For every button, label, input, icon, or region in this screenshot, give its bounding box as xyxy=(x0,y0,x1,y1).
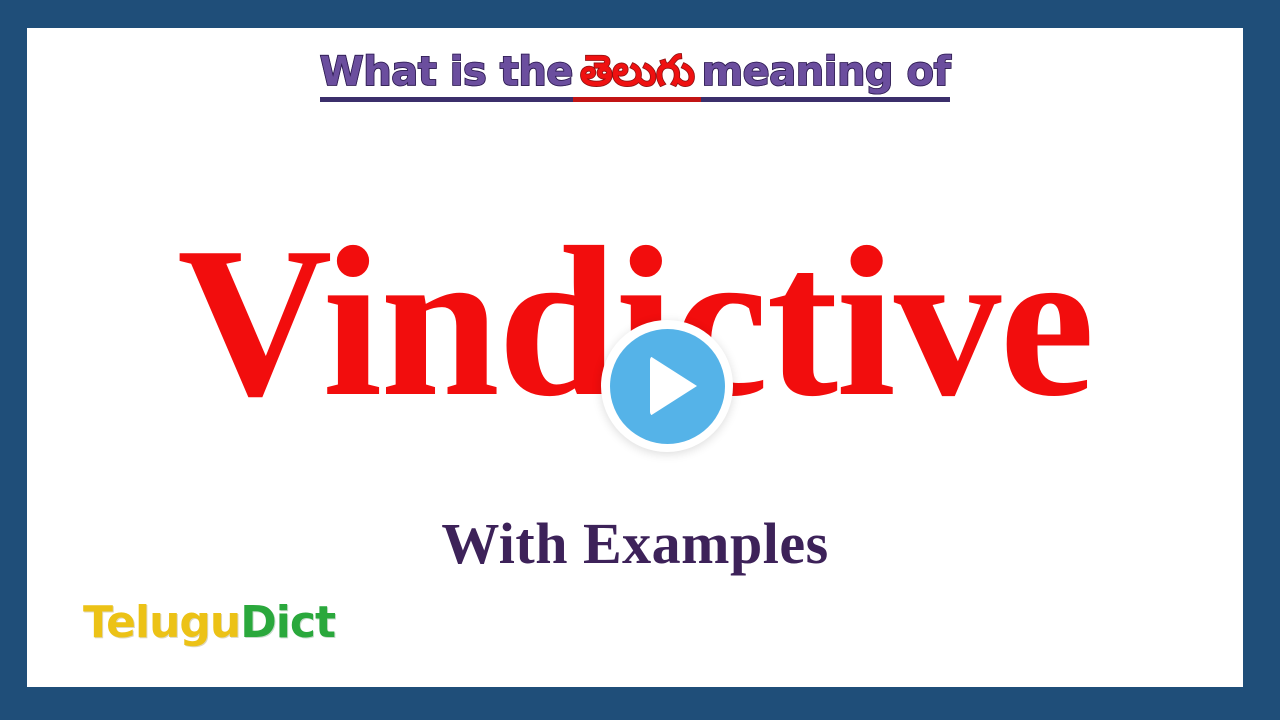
brand-logo-part-telugu: Telugu xyxy=(83,597,240,648)
heading-suffix-text: meaning of xyxy=(701,52,950,102)
heading-prefix-text: What is the xyxy=(320,52,573,102)
slide-frame: What is theతెలుగుmeaning of Vindictive W… xyxy=(0,0,1280,720)
play-button-disc[interactable] xyxy=(610,329,725,444)
play-icon[interactable] xyxy=(650,356,697,416)
subtitle: With Examples xyxy=(27,515,1243,573)
heading-language-word: తెలుగు xyxy=(573,50,702,102)
brand-logo[interactable]: TeluguDict xyxy=(83,601,335,645)
play-button[interactable] xyxy=(601,320,733,452)
brand-logo-part-dict: Dict xyxy=(240,597,335,648)
content-card: What is theతెలుగుmeaning of Vindictive W… xyxy=(27,28,1243,687)
question-heading: What is theతెలుగుmeaning of xyxy=(27,50,1243,102)
